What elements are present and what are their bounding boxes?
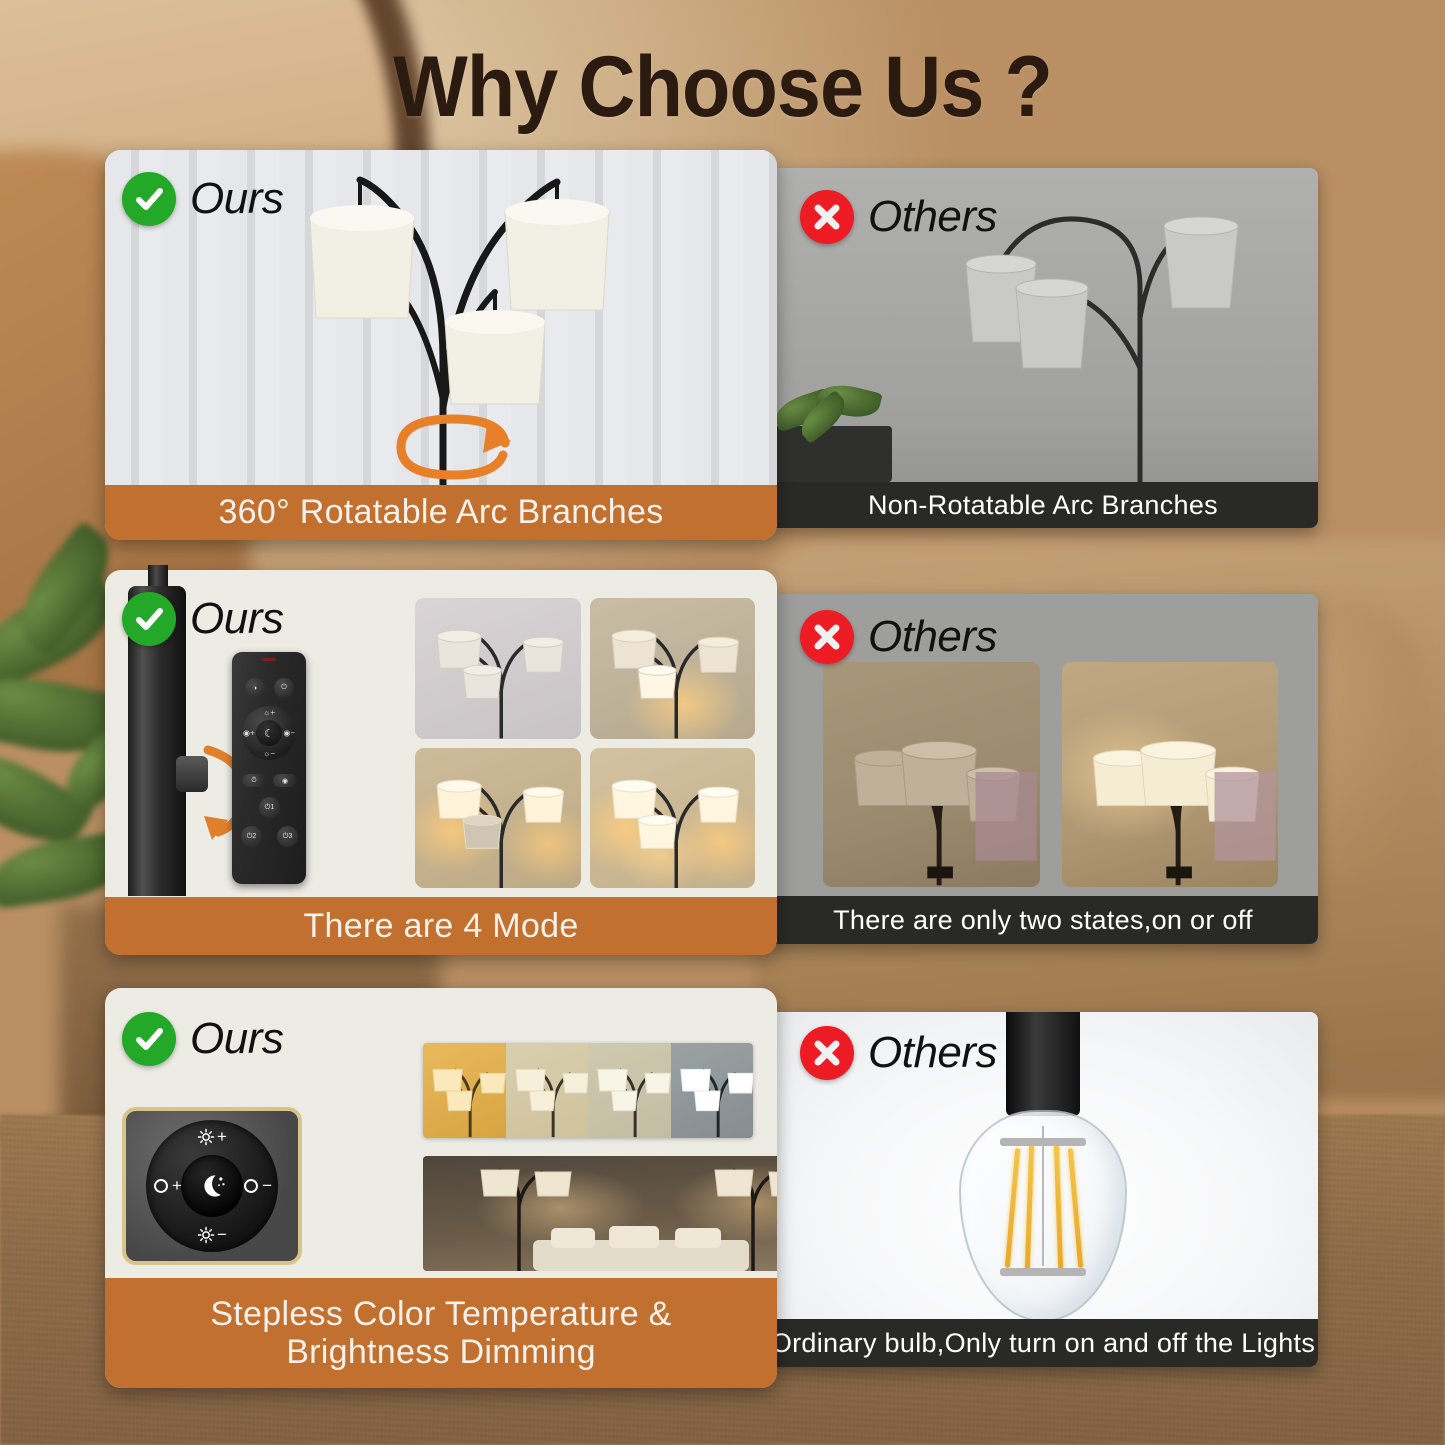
cross-circle-icon — [800, 190, 854, 244]
caption-line-2: Brightness Dimming — [286, 1333, 596, 1371]
remote-brightness-down[interactable]: ☼− — [263, 749, 275, 758]
remote-temp-down[interactable]: ◉− — [283, 729, 295, 738]
remote-night-mode[interactable]: ☾ — [256, 720, 282, 746]
edison-bulb-icon — [959, 1110, 1127, 1322]
others-state-on — [1062, 662, 1279, 887]
remote-button-power[interactable]: ⏻ — [274, 678, 294, 698]
moon-stars-icon[interactable] — [181, 1155, 243, 1217]
ours-badge-modes: Ours — [122, 592, 283, 646]
others-state-off — [823, 662, 1040, 887]
ours-badge-rotation: Ours — [122, 172, 283, 226]
color-temperature-strip — [423, 1043, 753, 1138]
cross-circle-icon — [800, 610, 854, 664]
ours-label: Ours — [190, 1014, 283, 1064]
ours-caption-modes: There are 4 Mode — [105, 897, 777, 955]
remote-button-dim[interactable]: ◑ — [245, 678, 265, 698]
temp-step-cool-white — [671, 1043, 754, 1138]
dimmer-knob-icon[interactable]: + + − − — [122, 1107, 302, 1265]
planter — [774, 426, 892, 482]
bulb-base — [1006, 1012, 1080, 1116]
planter-foliage — [770, 386, 902, 432]
check-circle-icon — [122, 592, 176, 646]
others-badge-dimming: Others — [800, 1026, 997, 1080]
mode-photo-grid — [415, 598, 755, 888]
dimmer-knob-ring[interactable]: + + − − — [146, 1120, 278, 1252]
others-caption-dimming: Ordinary bulb,Only turn on and off the L… — [768, 1319, 1318, 1367]
check-circle-icon — [122, 1012, 176, 1066]
remote-button-timer[interactable]: ⏱ — [242, 774, 266, 787]
temp-step-warm — [423, 1043, 506, 1138]
remote-button-1[interactable]: ⏻1 — [259, 797, 280, 818]
cross-circle-icon — [800, 1026, 854, 1080]
others-caption-modes: There are only two states,on or off — [768, 896, 1318, 944]
rotation-arrow-icon — [383, 405, 523, 485]
ours-caption-dimming: Stepless Color Temperature & Brightness … — [105, 1278, 777, 1388]
others-label: Others — [868, 1028, 997, 1078]
page-title: Why Choose Us ? — [58, 38, 1387, 137]
others-label: Others — [868, 192, 997, 242]
room-scene-photo — [423, 1156, 777, 1271]
remote-control-icon: ◑ ⏻ ☼+ ◉+ ◉− ☼− ☾ ⏱ ◉ ⏻1 ⏻2 ⏻3 — [232, 652, 306, 884]
ours-label: Ours — [190, 594, 283, 644]
remote-dpad[interactable]: ☼+ ◉+ ◉− ☼− ☾ — [242, 706, 296, 760]
others-state-photos — [823, 662, 1278, 887]
circle-minus-icon[interactable]: − — [242, 1176, 272, 1196]
circle-plus-icon[interactable]: + — [152, 1176, 182, 1196]
ours-label: Ours — [190, 174, 283, 224]
remote-button-mode[interactable]: ◉ — [273, 774, 297, 787]
remote-button-2[interactable]: ⏻2 — [241, 826, 262, 847]
others-label: Others — [868, 612, 997, 662]
caption-line-1: Stepless Color Temperature & — [210, 1295, 671, 1333]
others-badge-rotation: Others — [800, 190, 997, 244]
sun-plus-icon[interactable]: + — [197, 1127, 227, 1147]
temp-step-neutral — [588, 1043, 671, 1138]
temp-step-soft-warm — [506, 1043, 589, 1138]
others-badge-modes: Others — [800, 610, 997, 664]
remote-ir-led — [262, 658, 276, 661]
mode-cell-one-light-on — [590, 598, 756, 739]
remote-button-3[interactable]: ⏻3 — [277, 826, 298, 847]
mode-cell-off — [415, 598, 581, 739]
sun-minus-icon[interactable]: − — [197, 1225, 227, 1245]
others-caption-rotation: Non-Rotatable Arc Branches — [768, 482, 1318, 528]
mode-cell-two-lights-on — [415, 748, 581, 889]
remote-brightness-up[interactable]: ☼+ — [263, 708, 275, 717]
ours-badge-dimming: Ours — [122, 1012, 283, 1066]
ours-caption-rotation: 360° Rotatable Arc Branches — [105, 485, 777, 540]
remote-temp-up[interactable]: ◉+ — [243, 729, 255, 738]
mode-cell-all-lights-on — [590, 748, 756, 889]
check-circle-icon — [122, 172, 176, 226]
